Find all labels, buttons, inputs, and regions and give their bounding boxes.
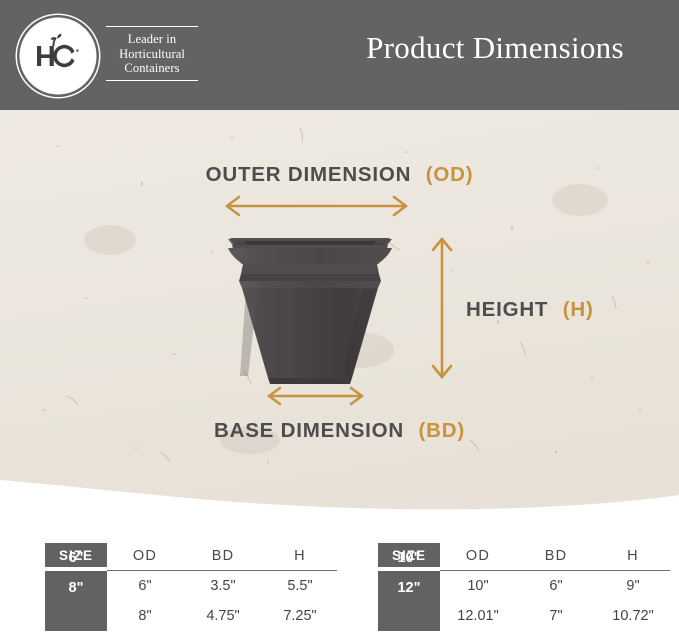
table-cell-h: 5.5" — [263, 571, 337, 601]
small-sizes-table: SIZE OD BD H 6" 8" 6" 3.5" 5.5" 8" 4.75"… — [45, 543, 337, 631]
header-bar: Leader in Horticultural Containers Produ… — [0, 0, 679, 110]
table-cell-bd: 3.5" — [183, 571, 263, 601]
outer-dimension-label: OUTER DIMENSION (OD) — [0, 163, 679, 187]
product-dimensions-infographic: Leader in Horticultural Containers Produ… — [0, 0, 679, 636]
hc-circle-leaf-logo-icon — [22, 18, 94, 90]
table-row: 10" — [378, 543, 440, 573]
brand-logo: Leader in Horticultural Containers — [22, 18, 202, 96]
table-cell-od: 10" — [440, 571, 516, 601]
column-header-od: OD — [107, 545, 183, 567]
height-abbr: (H) — [563, 298, 594, 321]
table-cell-bd: 4.75" — [183, 601, 263, 631]
column-header-bd: BD — [183, 545, 263, 567]
base-dimension-label: BASE DIMENSION (BD) — [0, 419, 679, 443]
table-cell-h: 10.72" — [596, 601, 670, 631]
table-row: 8" — [45, 573, 107, 603]
table-row: 12" — [378, 573, 440, 603]
height-text: HEIGHT — [466, 298, 548, 321]
logo-tagline: Leader in Horticultural Containers — [106, 26, 198, 81]
base-dimension-abbr: (BD) — [419, 419, 465, 442]
table-cell-od: 8" — [107, 601, 183, 631]
column-header-od: OD — [440, 545, 516, 567]
table-cell-bd: 7" — [516, 601, 596, 631]
table-cell-od: 12.01" — [440, 601, 516, 631]
table-cell-bd: 6" — [516, 571, 596, 601]
table-cell-od: 6" — [107, 571, 183, 601]
outer-dimension-text: OUTER DIMENSION — [206, 163, 412, 186]
height-label: HEIGHT (H) — [466, 298, 594, 322]
outer-dimension-abbr: (OD) — [426, 163, 474, 186]
table-cell-h: 7.25" — [263, 601, 337, 631]
large-sizes-table: SIZE OD BD H 10" 12" 10" 6" 9" 12.01" 7"… — [378, 543, 670, 631]
table-cell-h: 9" — [596, 571, 670, 601]
page-title: Product Dimensions — [330, 30, 660, 66]
column-header-h: H — [263, 545, 337, 567]
column-header-bd: BD — [516, 545, 596, 567]
table-row: 6" — [45, 543, 107, 573]
base-dimension-text: BASE DIMENSION — [214, 419, 404, 442]
column-header-h: H — [596, 545, 670, 567]
